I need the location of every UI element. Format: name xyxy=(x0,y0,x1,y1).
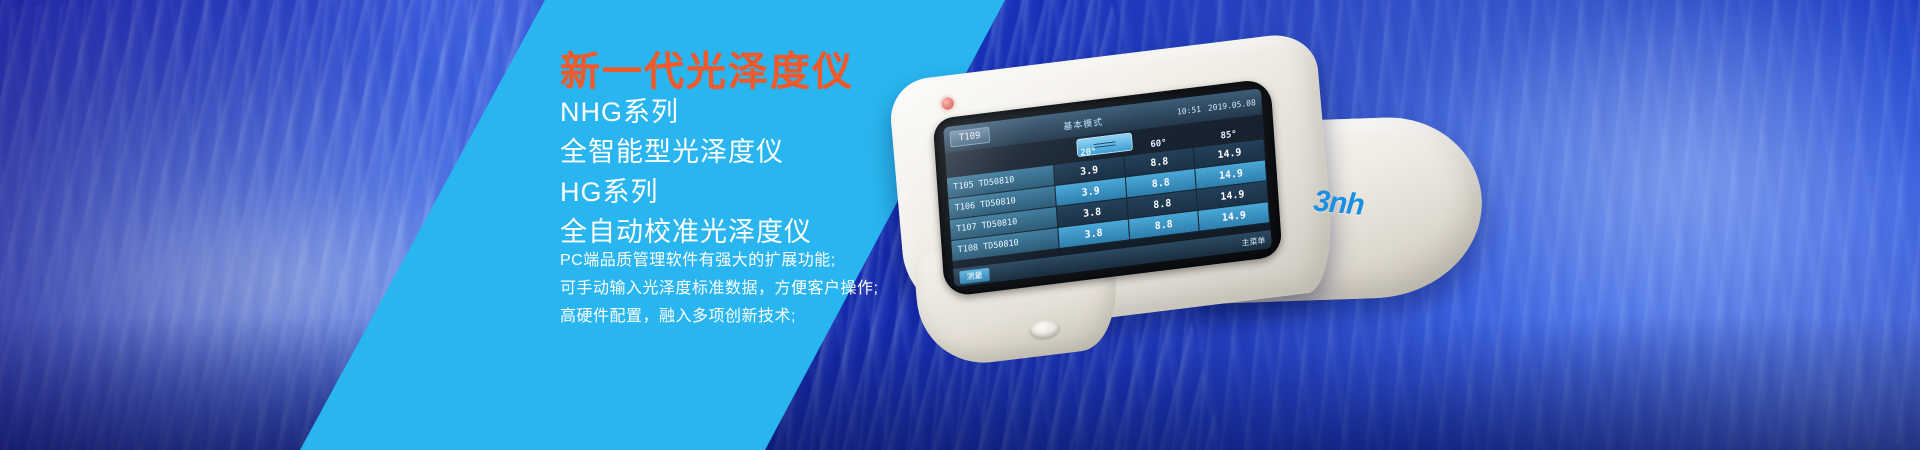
device-screen[interactable]: T109 基本模式 10:51 2019.05.08 20° xyxy=(943,88,1272,287)
feature-line-2: 可手动输入光泽度标准数据，方便客户操作; xyxy=(560,281,878,297)
device-screen-bezel: T109 基本模式 10:51 2019.05.08 20° xyxy=(933,78,1283,297)
screen-time: 10:51 xyxy=(1177,104,1202,116)
gloss-meter-device: T109 基本模式 10:51 2019.05.08 20° xyxy=(860,0,1501,423)
product-banner: 新一代光泽度仪 NHG系列 全智能型光泽度仪 HG系列 全自动校准光泽度仪 PC… xyxy=(0,0,1920,450)
feature-line-1: PC端品质管理软件有强大的扩展功能; xyxy=(560,253,836,269)
banner-headline: 新一代光泽度仪 xyxy=(560,52,854,92)
subheading-nhg-description: 全智能型光泽度仪 xyxy=(560,139,784,166)
screen-mode-label: 基本模式 xyxy=(1063,114,1104,132)
screen-date: 2019.05.08 xyxy=(1208,98,1256,113)
subheading-nhg-series: NHG系列 xyxy=(560,99,679,126)
device-body: T109 基本模式 10:51 2019.05.08 20° xyxy=(888,30,1337,342)
power-led-indicator xyxy=(941,97,954,110)
menu-label[interactable]: 主菜单 xyxy=(1241,234,1266,248)
feature-line-3: 高硬件配置，融入多项创新技术; xyxy=(560,309,796,325)
subheading-hg-series: HG系列 xyxy=(560,179,659,206)
subheading-hg-description: 全自动校准光泽度仪 xyxy=(560,219,812,246)
measure-tag-button[interactable]: 测量 xyxy=(959,267,990,284)
screen-sample-id: T109 xyxy=(949,127,990,148)
screen-meta: 10:51 2019.05.08 xyxy=(1177,98,1256,117)
brand-logo: 3nh xyxy=(1312,185,1365,223)
